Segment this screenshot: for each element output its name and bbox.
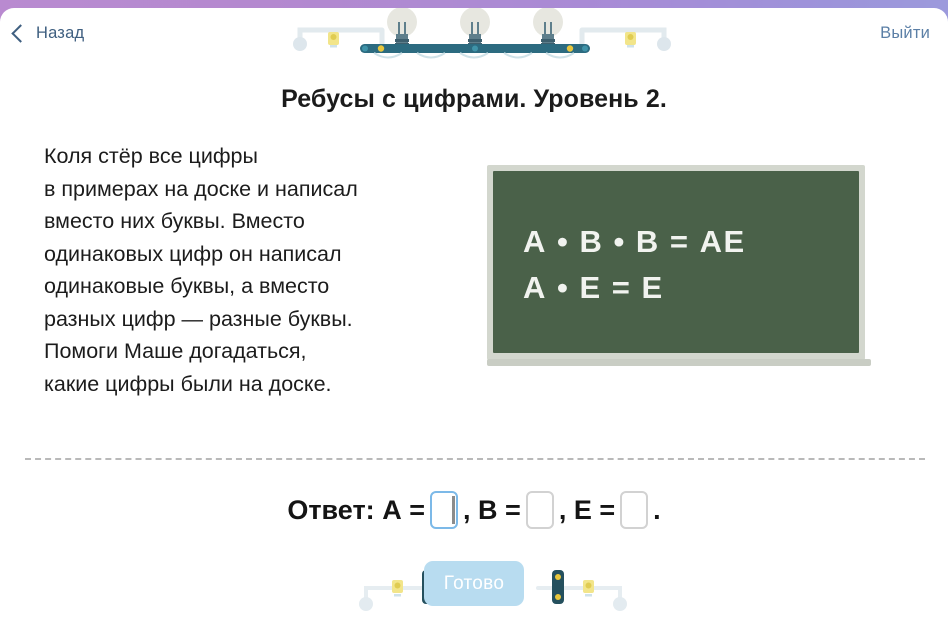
- problem-line: одинаковые буквы, а вместо: [44, 270, 474, 303]
- problem-line: разных цифр — разные буквы.: [44, 303, 474, 336]
- answer-input-e[interactable]: [620, 491, 648, 529]
- submit-row: Готово: [0, 556, 948, 622]
- lightbulb-progress-decoration: [282, 8, 682, 64]
- equals-sign-2: =: [505, 495, 521, 526]
- submit-decoration-right: [524, 556, 634, 622]
- answer-input-b[interactable]: [526, 491, 554, 529]
- answer-letter-b: В: [478, 495, 498, 526]
- problem-line: одинаковых цифр он написал: [44, 238, 474, 271]
- answer-letter-e: Е: [574, 495, 592, 526]
- exit-button[interactable]: Выйти: [880, 24, 930, 43]
- top-navigation-bar: Назад Выйти: [0, 8, 948, 64]
- back-button[interactable]: Назад: [14, 24, 84, 43]
- chevron-left-icon: [11, 24, 29, 42]
- equation-line-2: А • Е = Е: [523, 265, 746, 311]
- lesson-card: Назад Выйти: [0, 8, 948, 626]
- blackboard-illustration: А • В • В = АЕ А • Е = Е: [487, 165, 887, 430]
- exit-button-label: Выйти: [880, 24, 930, 42]
- equals-sign-1: =: [409, 495, 425, 526]
- problem-line: в примерах на доске и написал: [44, 173, 474, 206]
- answer-row: Ответ: А = , В = , Е = .: [0, 491, 948, 529]
- section-divider: [25, 458, 925, 460]
- equations-group: А • В • В = АЕ А • Е = Е: [523, 219, 746, 311]
- answer-input-a[interactable]: [430, 491, 458, 529]
- battery-wire-right-icon: [524, 556, 634, 622]
- separator-3: .: [653, 495, 661, 526]
- separator-2: ,: [559, 495, 567, 526]
- page-title: Ребусы с цифрами. Уровень 2.: [0, 85, 948, 114]
- problem-line: Коля стёр все цифры: [44, 140, 474, 173]
- equals-sign-3: =: [599, 495, 615, 526]
- problem-line: вместо них буквы. Вместо: [44, 205, 474, 238]
- equation-line-1: А • В • В = АЕ: [523, 219, 746, 265]
- lightbulb-strip-icon: [282, 8, 682, 64]
- separator-1: ,: [463, 495, 471, 526]
- problem-statement: Коля стёр все цифры в примерах на доске …: [44, 140, 474, 400]
- back-button-label: Назад: [36, 24, 84, 43]
- submit-button[interactable]: Готово: [424, 561, 524, 606]
- blackboard-ledge: [487, 359, 871, 366]
- answer-label: Ответ:: [287, 495, 374, 526]
- problem-line: какие цифры были на доске.: [44, 368, 474, 401]
- answer-letter-a: А: [382, 495, 402, 526]
- problem-line: Помоги Маше догадаться,: [44, 335, 474, 368]
